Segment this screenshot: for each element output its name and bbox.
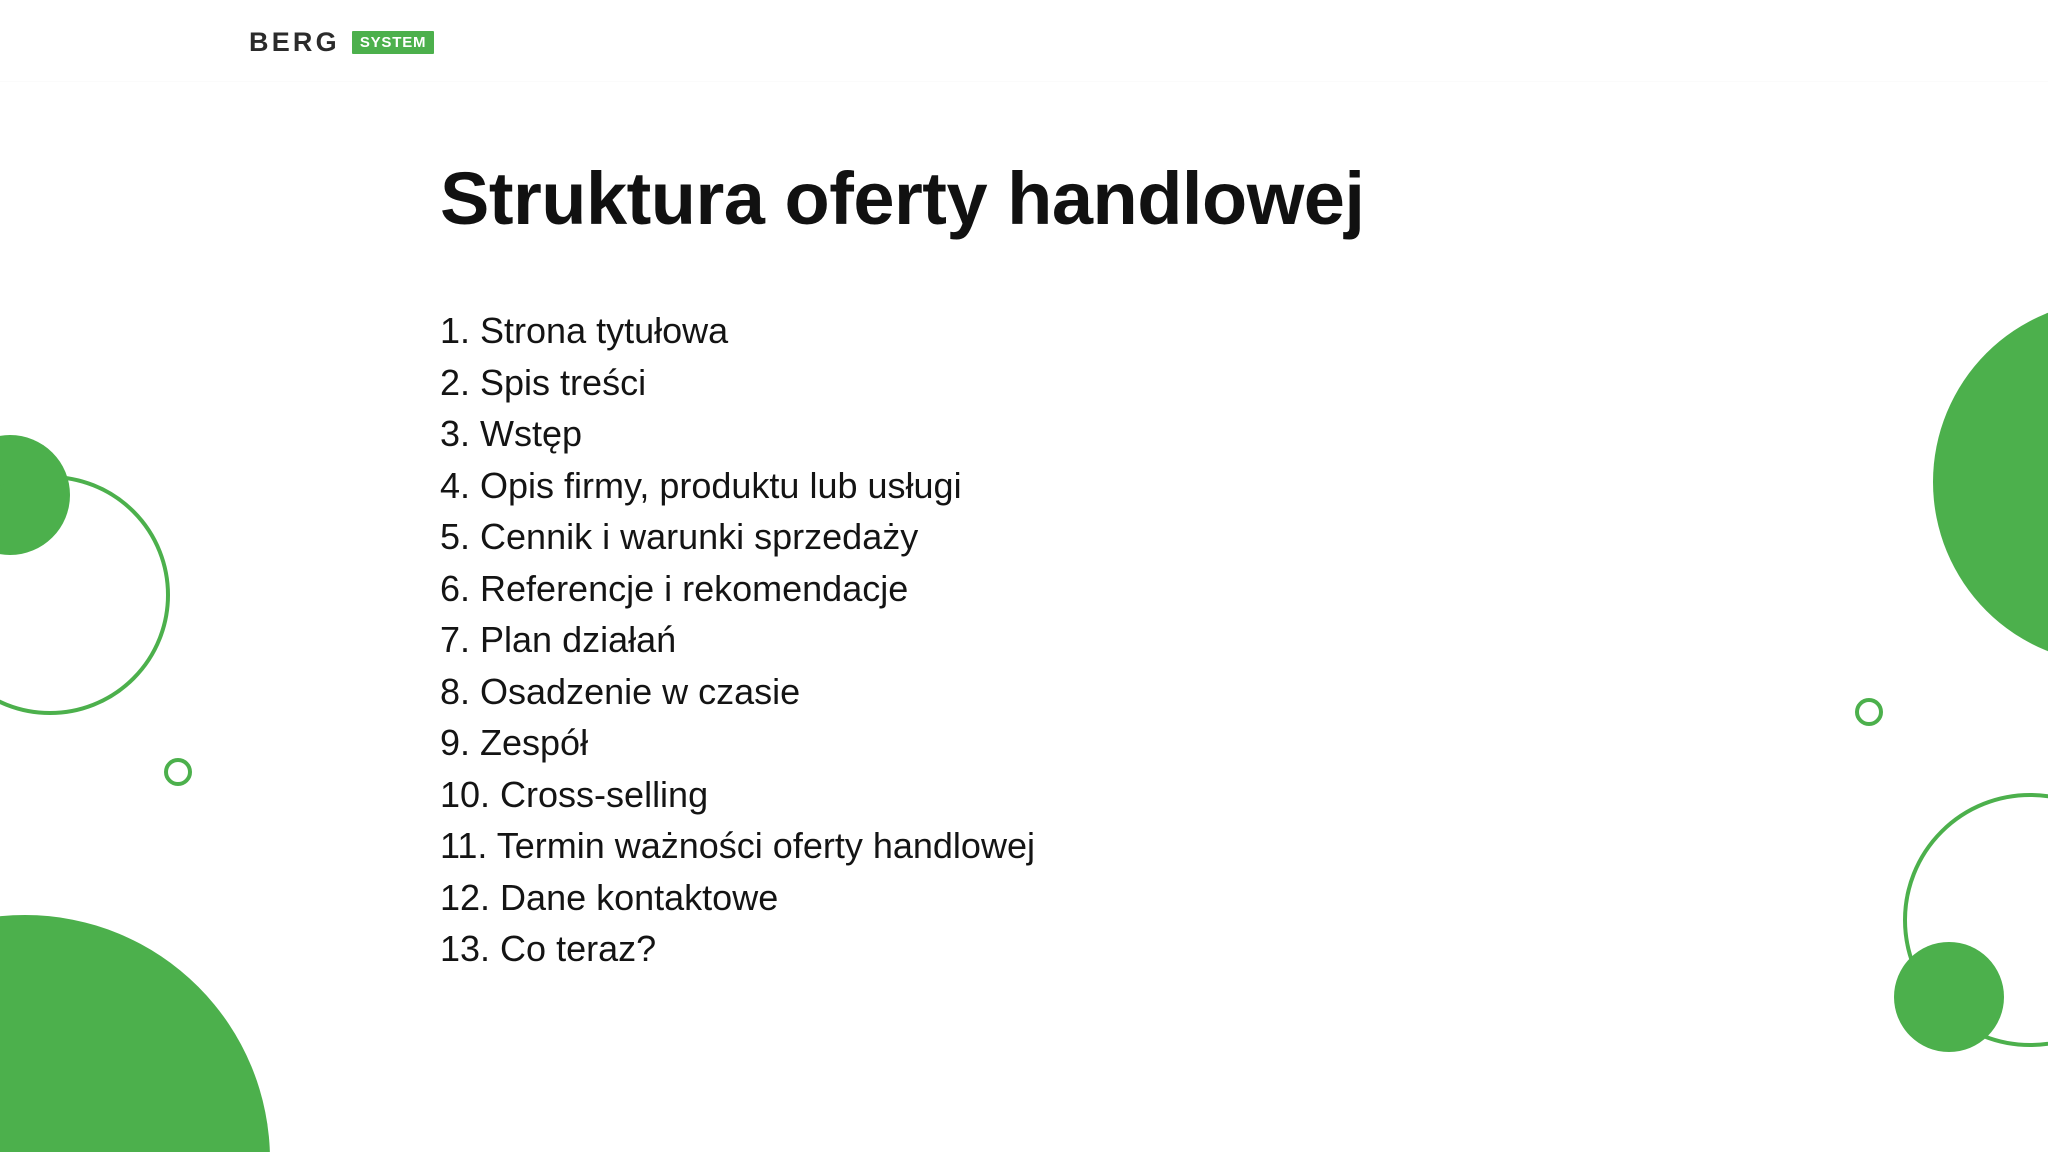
- list-item: 3. Wstęp: [440, 408, 1035, 460]
- list-item: 1. Strona tytułowa: [440, 305, 1035, 357]
- list-item: 7. Plan działań: [440, 614, 1035, 666]
- list-item: 13. Co teraz?: [440, 923, 1035, 975]
- list-item: 2. Spis treści: [440, 357, 1035, 409]
- slide-header: BERG SYSTEM: [0, 0, 2048, 82]
- list-item: 5. Cennik i warunki sprzedaży: [440, 511, 1035, 563]
- list-item: 4. Opis firmy, produktu lub usługi: [440, 460, 1035, 512]
- list-item: 10. Cross-selling: [440, 769, 1035, 821]
- list-item: 12. Dane kontaktowe: [440, 872, 1035, 924]
- agenda-list: 1. Strona tytułowa 2. Spis treści 3. Wst…: [440, 305, 1035, 975]
- list-item: 8. Osadzenie w czasie: [440, 666, 1035, 718]
- logo-system-badge: SYSTEM: [352, 31, 434, 54]
- header-divider: [0, 81, 2048, 82]
- brand-logo[interactable]: BERG SYSTEM: [249, 28, 434, 56]
- slide-content: Struktura oferty handlowej 1. Strona tyt…: [0, 0, 2048, 1152]
- page-title: Struktura oferty handlowej: [440, 158, 1364, 239]
- slide-root: BERG SYSTEM Struktura oferty handlowej 1…: [0, 0, 2048, 1152]
- list-item: 6. Referencje i rekomendacje: [440, 563, 1035, 615]
- list-item: 11. Termin ważności oferty handlowej: [440, 820, 1035, 872]
- list-item: 9. Zespół: [440, 717, 1035, 769]
- logo-wordmark: BERG: [249, 29, 340, 56]
